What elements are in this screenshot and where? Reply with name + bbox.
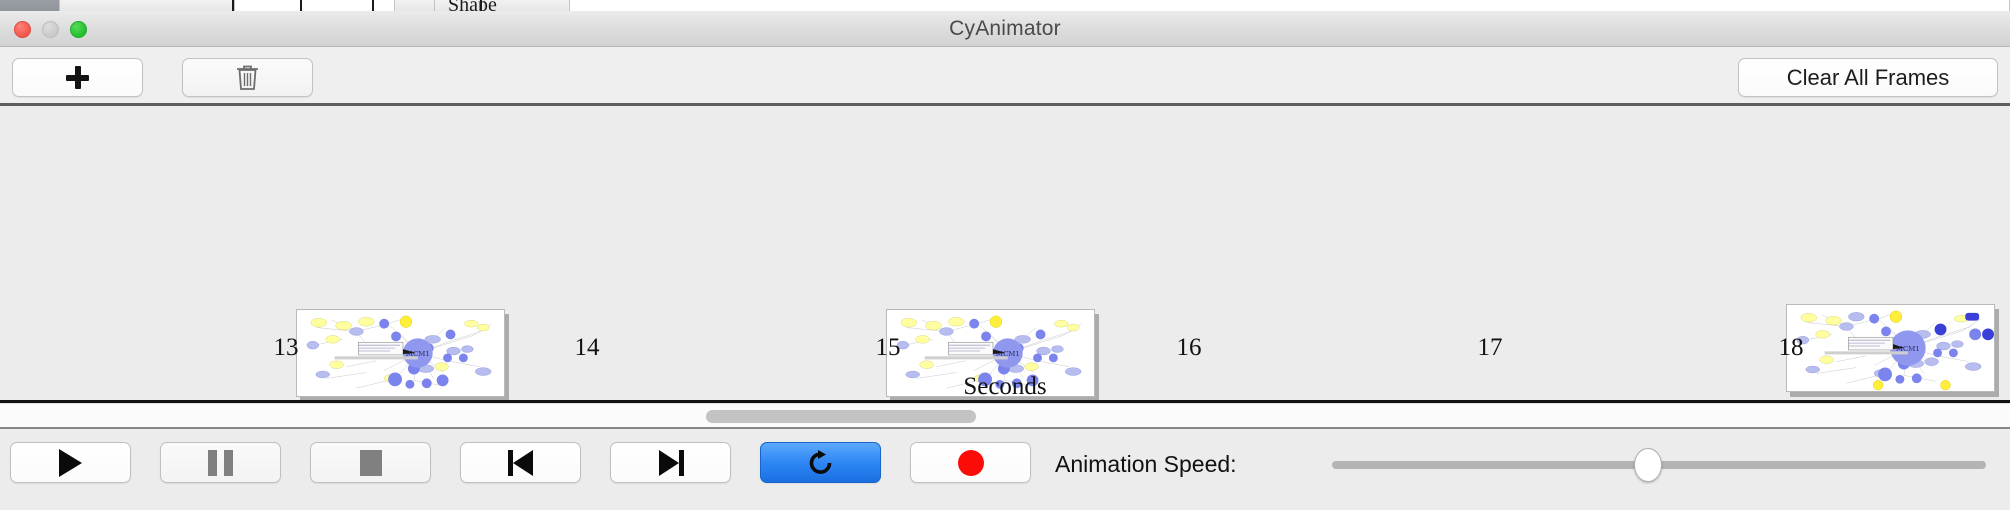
network-preview-icon: MCM1 — [297, 310, 504, 396]
skip-to-start-button[interactable] — [460, 442, 581, 483]
frame-thumbnail[interactable]: MCM1 — [296, 309, 505, 397]
pause-button[interactable] — [160, 442, 281, 483]
skip-back-icon — [508, 450, 534, 476]
clear-all-frames-button[interactable]: Clear All Frames — [1738, 58, 1998, 97]
add-frame-button[interactable] — [12, 58, 143, 97]
loop-icon — [806, 448, 836, 478]
scrollbar-thumb[interactable] — [706, 410, 976, 423]
record-button[interactable] — [910, 442, 1031, 483]
play-icon — [59, 449, 82, 477]
frame-toolbar: Clear All Frames — [0, 47, 2010, 106]
trash-icon — [235, 64, 260, 91]
stop-icon — [360, 450, 382, 476]
cyanimator-window: CyAnimator Clear All Frames — [0, 11, 2010, 510]
title-bar: CyAnimator — [0, 11, 2010, 47]
animation-speed-label: Animation Speed: — [1055, 451, 1237, 478]
timeline-scrollbar[interactable] — [0, 403, 2010, 429]
network-preview-icon: MCM1 — [887, 310, 1094, 396]
timeline-panel[interactable]: MCM1 — [0, 106, 2010, 403]
play-button[interactable] — [10, 442, 131, 483]
loop-button[interactable] — [760, 442, 881, 483]
plus-icon — [66, 66, 89, 89]
skip-to-end-button[interactable] — [610, 442, 731, 483]
record-icon — [958, 450, 984, 476]
frame-thumbnail[interactable]: MCM1 — [1786, 304, 1995, 392]
frame-thumbnail[interactable]: MCM1 — [886, 309, 1095, 397]
transport-bar: Animation Speed: — [0, 429, 2010, 497]
delete-frame-button[interactable] — [182, 58, 313, 97]
clear-all-frames-label: Clear All Frames — [1787, 65, 1950, 91]
animation-speed-slider[interactable] — [1332, 461, 1986, 469]
skip-forward-icon — [658, 450, 684, 476]
stop-button[interactable] — [310, 442, 431, 483]
pause-icon — [208, 450, 233, 476]
network-preview-icon: MCM1 — [1787, 305, 1994, 391]
slider-thumb[interactable] — [1634, 448, 1662, 482]
window-title: CyAnimator — [0, 17, 2010, 41]
